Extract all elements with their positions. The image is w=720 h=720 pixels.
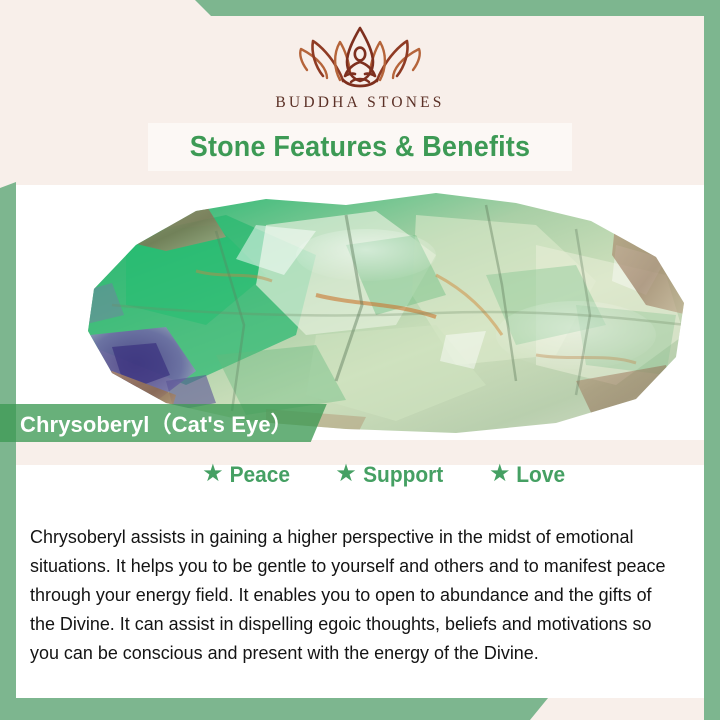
brand-name: BUDDHA STONES <box>275 94 444 112</box>
section-title-band: Stone Features & Benefits <box>148 123 572 171</box>
benefit-item-support: ★ Support <box>335 462 445 488</box>
star-icon: ★ <box>335 462 357 486</box>
lotus-meditation-icon <box>285 24 435 90</box>
benefit-item-love: ★ Love <box>489 462 566 488</box>
stone-name-label: Chrysoberyl（Cat's Eye） <box>20 407 293 439</box>
brand-logo: BUDDHA STONES <box>0 24 720 112</box>
page-title: Stone Features & Benefits <box>190 131 530 164</box>
benefit-item-peace: ★ Peace <box>202 462 291 488</box>
frame-left-bar <box>0 182 16 706</box>
benefits-row: ★ Peace ★ Support ★ Love <box>16 462 720 488</box>
cream-bottom-right-panel <box>530 698 720 720</box>
stone-name-banner: Chrysoberyl（Cat's Eye） <box>0 404 327 442</box>
stone-features-poster: BUDDHA STONES Stone Features & Benefits <box>0 0 720 720</box>
benefit-label: Peace <box>229 462 289 488</box>
stone-photo <box>16 185 704 440</box>
star-icon: ★ <box>489 462 511 486</box>
stone-description: Chrysoberyl assists in gaining a higher … <box>30 522 670 667</box>
benefit-label: Support <box>363 462 443 488</box>
star-icon: ★ <box>202 462 224 486</box>
benefit-label: Love <box>516 462 565 488</box>
